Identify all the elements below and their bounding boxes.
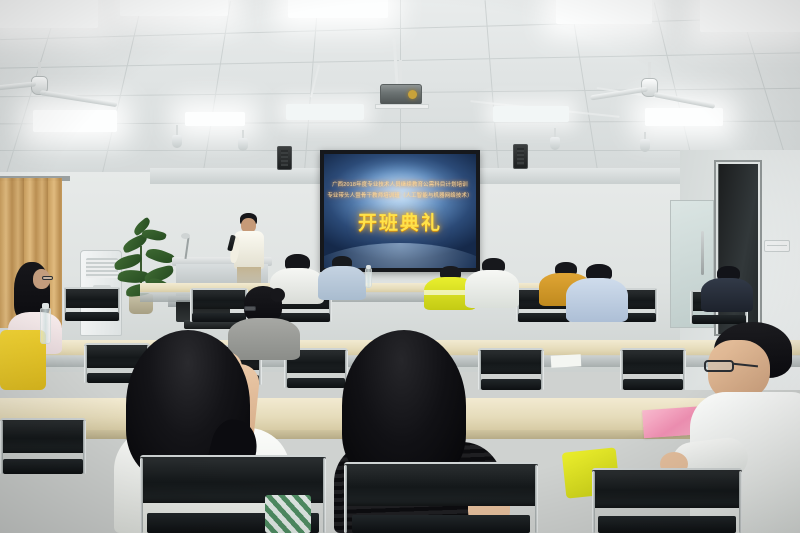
hair-bun <box>270 288 285 302</box>
attendee-dark-navy-shirt <box>700 266 754 312</box>
projector-lens <box>408 90 417 99</box>
chair-mid-5[interactable] <box>620 348 686 390</box>
slide-subtitle-line-2: 专业带头人暨骨干教师培训班（人工智能与机器网络技术） <box>324 191 476 199</box>
attendee-white-polo <box>464 258 520 308</box>
water-bottle-cap-back <box>366 265 371 269</box>
ceiling-light-5 <box>700 0 800 32</box>
gooseneck-microphone-head <box>181 233 190 239</box>
water-bottle-back[interactable] <box>365 268 372 288</box>
ceiling-light-6 <box>33 110 117 132</box>
ceiling-fan-left <box>10 62 130 106</box>
wall-switch-panel[interactable] <box>764 240 790 252</box>
projection-screen: 广西2018年度专业技术人员继续教育公需科目计划培训 专业带头人暨骨干教师培训班… <box>320 150 480 272</box>
document-on-desk[interactable] <box>551 354 582 368</box>
slide-subtitle-line-1: 广西2018年度专业技术人员继续教育公需科目计划培训 <box>324 180 476 188</box>
ceiling-light-2 <box>120 0 228 16</box>
wall-speaker-left <box>277 146 292 170</box>
attendee-light-blue-shirt <box>566 264 628 322</box>
chair-front-left[interactable] <box>0 418 86 474</box>
attendee-blue-check-shirt <box>318 256 366 300</box>
ceiling-light-3 <box>288 0 388 18</box>
ceiling-light-4 <box>556 0 652 24</box>
glasses <box>704 360 734 372</box>
ceiling-light-10 <box>645 108 723 126</box>
ceiling-fan-right <box>612 62 742 108</box>
chair-back-1[interactable] <box>63 287 121 321</box>
water-bottle-cap-left <box>42 303 49 309</box>
long-black-hair <box>342 330 466 482</box>
wall-speaker-right <box>513 144 528 169</box>
screen-surface: 广西2018年度专业技术人员继续教育公需科目计划培训 专业带头人暨骨干教师培训班… <box>324 154 476 268</box>
ceiling-light-1 <box>0 0 98 28</box>
ceiling-mounted-projector <box>372 60 442 112</box>
ceiling-light-8 <box>286 104 364 120</box>
chair-front-right-center[interactable] <box>344 462 538 533</box>
chair-front-right[interactable] <box>592 468 742 533</box>
ceiling-light-9 <box>493 106 569 122</box>
green-striped-bag[interactable] <box>265 495 311 533</box>
classroom-photo: 广西2018年度专业技术人员继续教育公需科目计划培训 专业带头人暨骨干教师培训班… <box>0 0 800 533</box>
water-bottle-left[interactable] <box>40 308 51 344</box>
ceiling-light-7 <box>185 112 245 126</box>
glasses <box>244 306 256 311</box>
slide-main-title: 开班典礼 <box>324 208 476 235</box>
glasses <box>42 276 53 280</box>
